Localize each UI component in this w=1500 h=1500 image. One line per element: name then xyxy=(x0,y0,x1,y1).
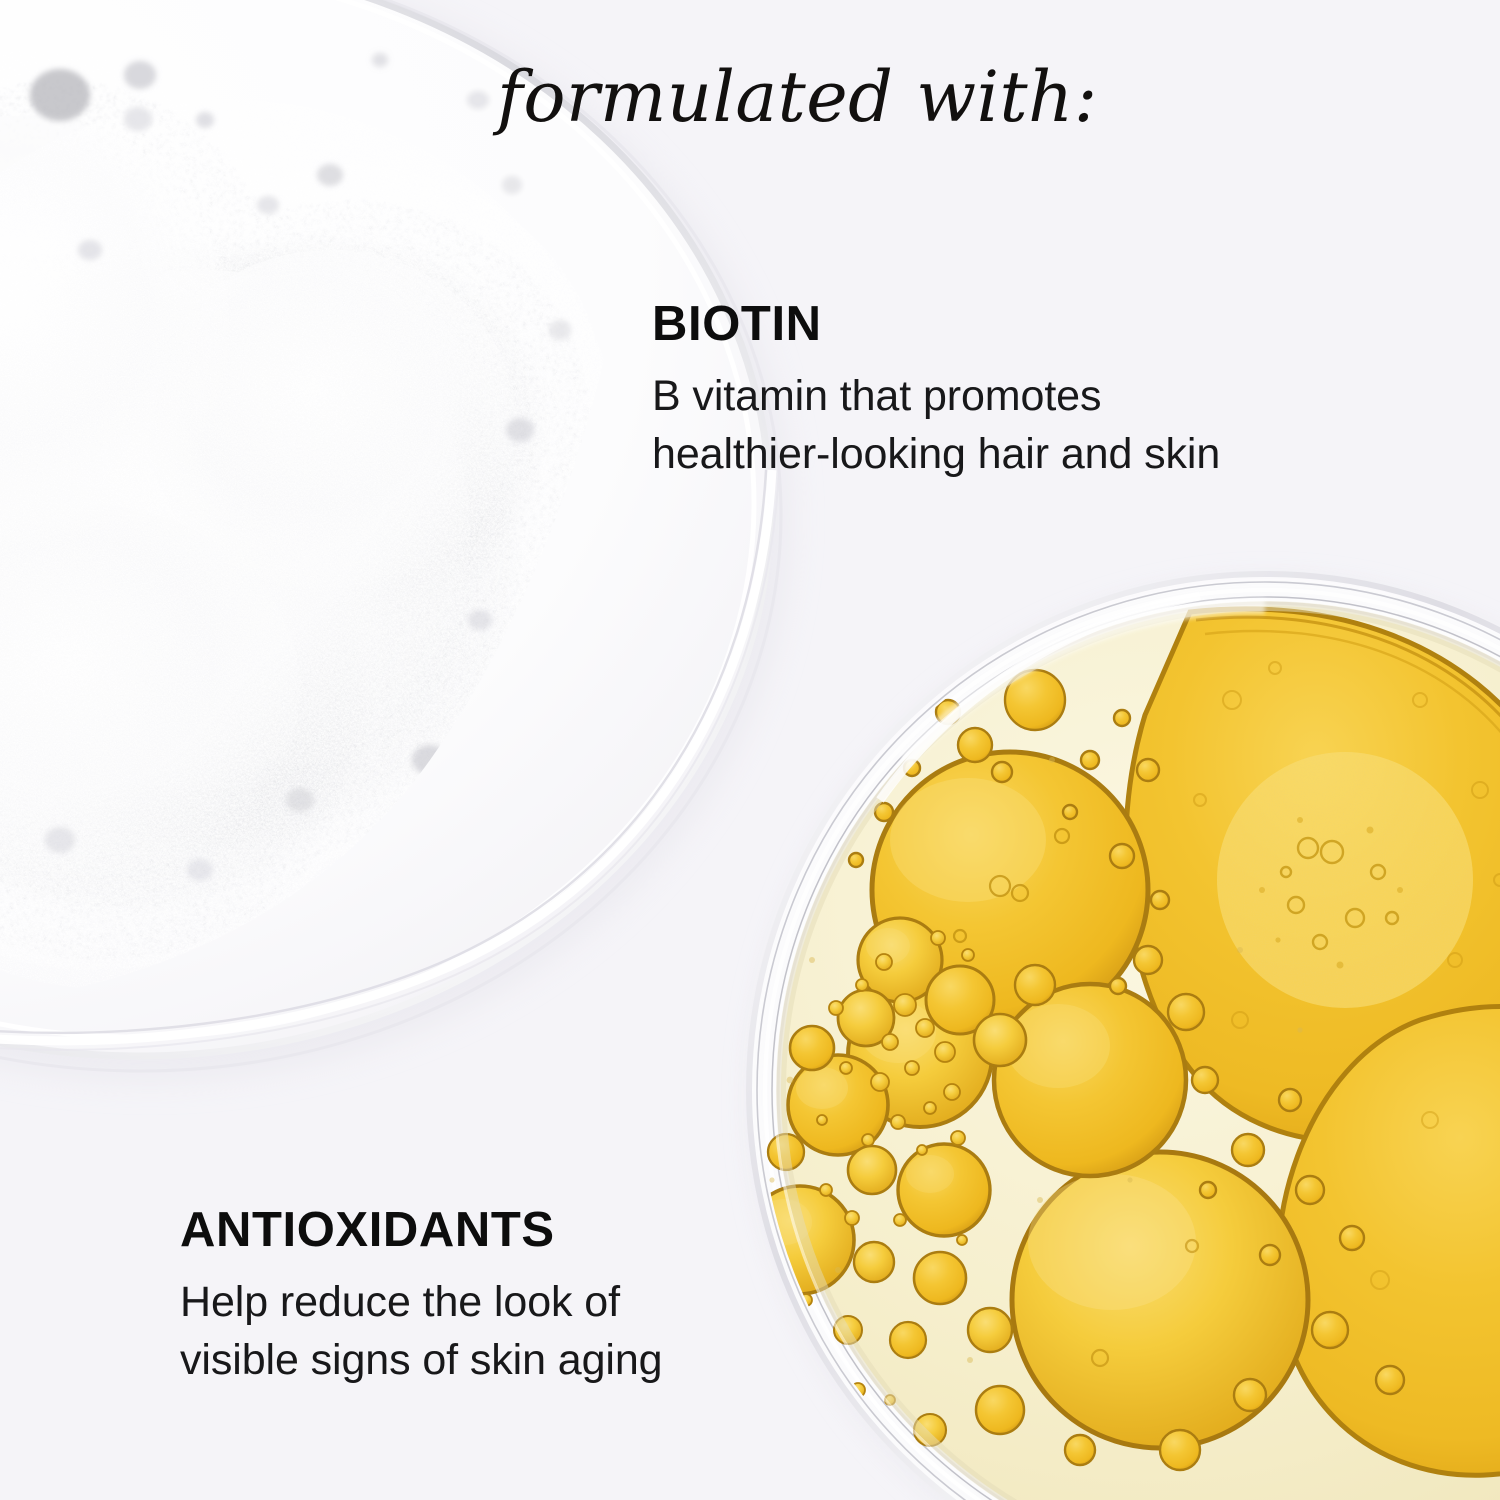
ingredient-name-antioxidants: ANTIOXIDANTS xyxy=(180,1206,663,1255)
ingredient-description-biotin: B vitamin that promotes healthier-lookin… xyxy=(652,367,1220,484)
marketing-image: formulated with: BIOTIN B vitamin that p… xyxy=(0,0,1500,1500)
droplet-large-c xyxy=(994,984,1186,1176)
antioxidants-desc-line-2: visible signs of skin aging xyxy=(180,1331,663,1389)
page-title: formulated with: xyxy=(497,56,1098,138)
ingredient-block-antioxidants: ANTIOXIDANTS Help reduce the look of vis… xyxy=(180,1206,663,1390)
biotin-desc-line-1: B vitamin that promotes xyxy=(652,367,1220,425)
ingredient-description-antioxidants: Help reduce the look of visible signs of… xyxy=(180,1273,663,1390)
ingredient-block-biotin: BIOTIN B vitamin that promotes healthier… xyxy=(652,300,1220,484)
ingredient-name-biotin: BIOTIN xyxy=(652,300,1220,349)
antioxidants-desc-line-1: Help reduce the look of xyxy=(180,1273,663,1331)
biotin-desc-line-2: healthier-looking hair and skin xyxy=(652,425,1220,483)
